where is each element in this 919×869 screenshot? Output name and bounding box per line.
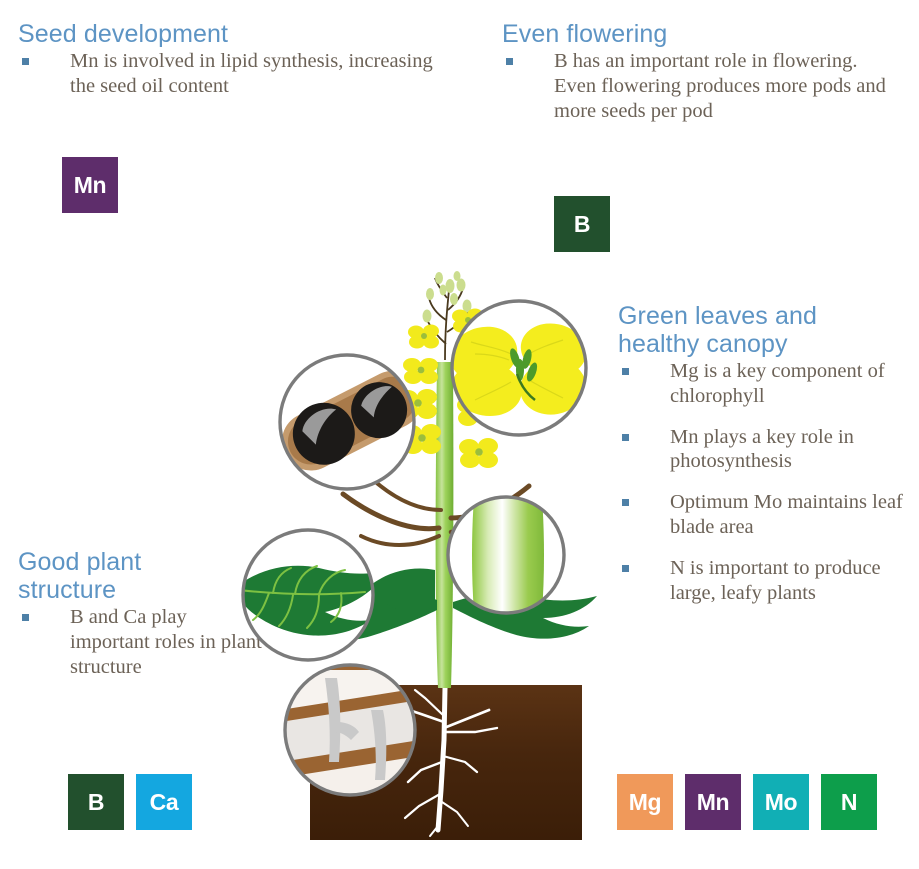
section-heading-even-flowering: Even flowering — [502, 20, 902, 48]
section-green-leaves-healthy-canopy: Green leaves and healthy canopy Mg is a … — [618, 302, 908, 605]
list-item: B has an important role in flowering. Ev… — [502, 49, 894, 123]
bullet-text: Mn plays a key role in photosynthesis — [670, 426, 854, 473]
nutrient-badge-mg[interactable]: Mg — [617, 774, 673, 830]
bullet-text: Mn is involved in lipid synthesis, incre… — [70, 50, 433, 97]
section-heading-seed-development: Seed development — [18, 20, 458, 48]
nutrient-badge-b[interactable]: B — [68, 774, 124, 830]
bullet-square-icon — [22, 614, 29, 621]
list-item: N is important to produce large, leafy p… — [618, 556, 908, 606]
list-item: Mg is a key component of chlorophyll — [618, 359, 908, 409]
oilseed-rape-plant-illustration — [225, 270, 625, 860]
plant-stem — [436, 362, 454, 688]
nutrient-badge-ca[interactable]: Ca — [136, 774, 192, 830]
bullet-text: Mg is a key component of chlorophyll — [670, 360, 885, 407]
section-seed-development: Seed development Mn is involved in lipid… — [18, 20, 458, 99]
list-item: Mn plays a key role in photosynthesis — [618, 425, 908, 475]
bullet-square-icon — [506, 58, 513, 65]
section-heading-green-leaves: Green leaves and healthy canopy — [618, 302, 908, 358]
bullet-list-seed-development: Mn is involved in lipid synthesis, incre… — [18, 49, 458, 99]
list-item: Optimum Mo maintains leaf blade area — [618, 490, 908, 540]
nutrient-badge-mn[interactable]: Mn — [685, 774, 741, 830]
section-even-flowering: Even flowering B has an important role i… — [502, 20, 902, 123]
bullet-text: N is important to produce large, leafy p… — [670, 557, 881, 604]
nutrient-badge-mo[interactable]: Mo — [753, 774, 809, 830]
bullet-text: Optimum Mo maintains leaf blade area — [670, 491, 903, 538]
badge-group-seed-development: Mn — [62, 157, 118, 213]
nutrient-badge-b[interactable]: B — [554, 196, 610, 252]
badge-group-even-flowering: B — [554, 196, 610, 252]
badge-group-green-leaves: Mg Mn Mo N — [617, 774, 877, 830]
bullet-square-icon — [22, 58, 29, 65]
bullet-list-even-flowering: B has an important role in flowering. Ev… — [502, 49, 902, 123]
nutrient-badge-n[interactable]: N — [821, 774, 877, 830]
bullet-text: B has an important role in flowering. Ev… — [554, 50, 886, 122]
nutrient-badge-mn[interactable]: Mn — [62, 157, 118, 213]
bullet-list-green-leaves: Mg is a key component of chlorophyll Mn … — [618, 359, 908, 605]
list-item: Mn is involved in lipid synthesis, incre… — [18, 49, 458, 99]
leaf-magnifier — [235, 530, 387, 660]
badge-group-good-plant-structure: B Ca — [68, 774, 192, 830]
